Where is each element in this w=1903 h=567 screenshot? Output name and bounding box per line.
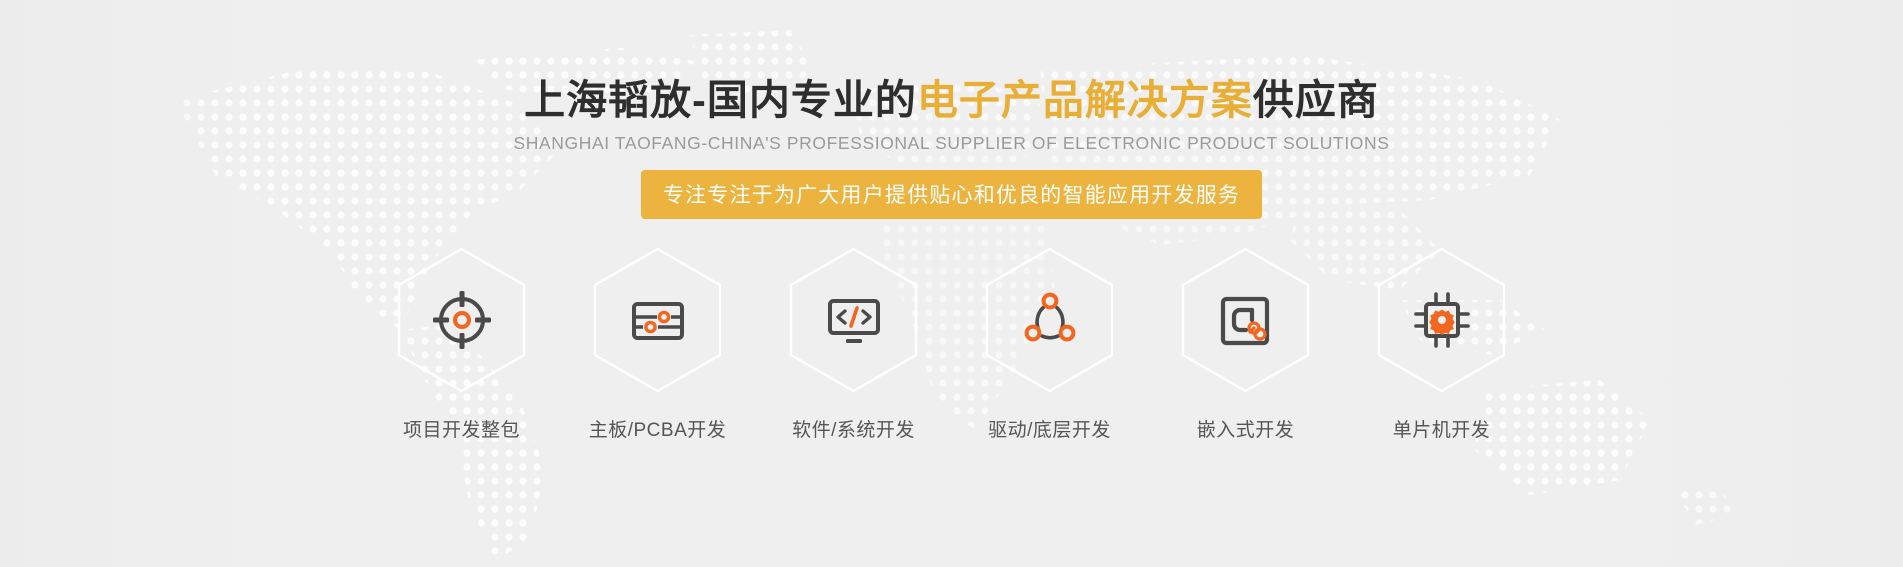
hero-banner: 上海韬放-国内专业的电子产品解决方案供应商 SHANGHAI TAOFANG-C… [0, 0, 1903, 567]
chip-gear-icon [1410, 288, 1474, 352]
service-item-pcba[interactable]: 主板/PCBA开发 [578, 247, 738, 442]
service-label: 单片机开发 [1393, 415, 1491, 442]
hexagon-frame [1179, 247, 1312, 393]
service-label: 嵌入式开发 [1197, 415, 1295, 442]
hexagon-frame [591, 247, 724, 393]
service-label: 驱动/底层开发 [988, 415, 1111, 442]
hexagon-frame [395, 247, 528, 393]
service-item-mcu[interactable]: 单片机开发 [1362, 247, 1522, 442]
hexagon-frame [787, 247, 920, 393]
hexagon-frame [983, 247, 1116, 393]
service-item-embedded[interactable]: 嵌入式开发 [1166, 247, 1326, 442]
headline-prefix: 上海韬放-国内专业的 [524, 77, 917, 123]
service-label: 项目开发整包 [403, 415, 520, 442]
chip-link-icon [1214, 288, 1278, 352]
service-label: 软件/系统开发 [792, 415, 915, 442]
network-nodes-icon [1018, 288, 1082, 352]
service-label: 主板/PCBA开发 [589, 415, 727, 442]
hexagon-frame [1375, 247, 1508, 393]
tagline-badge: 专注专注于为广大用户提供贴心和优良的智能应用开发服务 [641, 170, 1262, 219]
code-monitor-icon [822, 288, 886, 352]
headline-accent: 电子产品解决方案 [917, 77, 1253, 123]
page-subtitle: SHANGHAI TAOFANG-CHINA'S PROFESSIONAL SU… [513, 133, 1389, 154]
page-title: 上海韬放-国内专业的电子产品解决方案供应商 [524, 76, 1379, 124]
service-item-software-system[interactable]: 软件/系统开发 [774, 247, 934, 442]
circuit-board-icon [626, 288, 690, 352]
target-icon [430, 288, 494, 352]
headline-suffix: 供应商 [1253, 77, 1379, 123]
service-list: 项目开发整包 [382, 247, 1522, 442]
service-item-project-package[interactable]: 项目开发整包 [382, 247, 542, 442]
service-item-driver-lowlevel[interactable]: 驱动/底层开发 [970, 247, 1130, 442]
